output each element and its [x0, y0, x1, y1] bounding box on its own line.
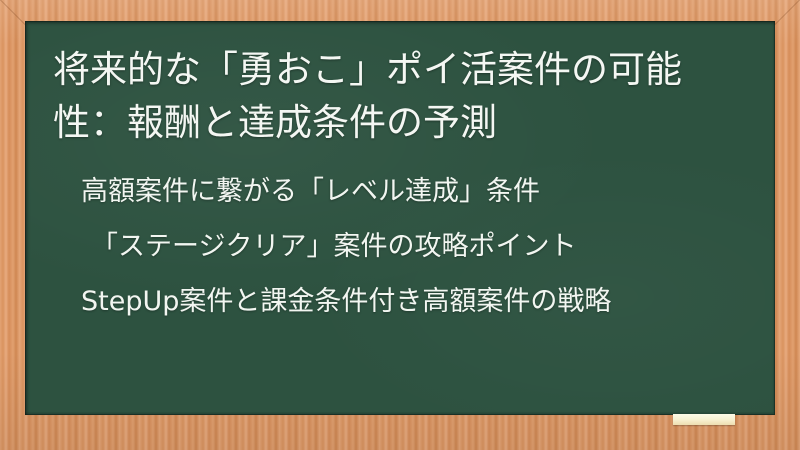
- chalkboard-surface: 将来的な「勇おこ」ポイ活案件の可能性：報酬と達成条件の予測 高額案件に繋がる「レ…: [25, 21, 775, 415]
- chalk-stick-icon: [673, 414, 735, 425]
- slide-title-line-1: 将来的な「勇おこ」ポイ活案件の可能: [53, 48, 682, 91]
- bullet-item-2: 「ステージクリア」案件の攻略ポイント: [59, 219, 749, 274]
- chalk-ledge: [25, 412, 775, 416]
- slide-bullet-list: 高額案件に繋がる「レベル達成」条件 「ステージクリア」案件の攻略ポイント Ste…: [59, 164, 749, 329]
- slide-canvas: 将来的な「勇おこ」ポイ活案件の可能性：報酬と達成条件の予測 高額案件に繋がる「レ…: [0, 0, 800, 450]
- slide-title-line-2: 性：報酬と達成条件の予測: [53, 101, 497, 144]
- bullet-item-1: 高額案件に繋がる「レベル達成」条件: [59, 164, 749, 219]
- slide-title: 将来的な「勇おこ」ポイ活案件の可能性：報酬と達成条件の予測: [53, 43, 753, 149]
- bullet-item-3: StepUp案件と課金条件付き高額案件の戦略: [59, 274, 749, 329]
